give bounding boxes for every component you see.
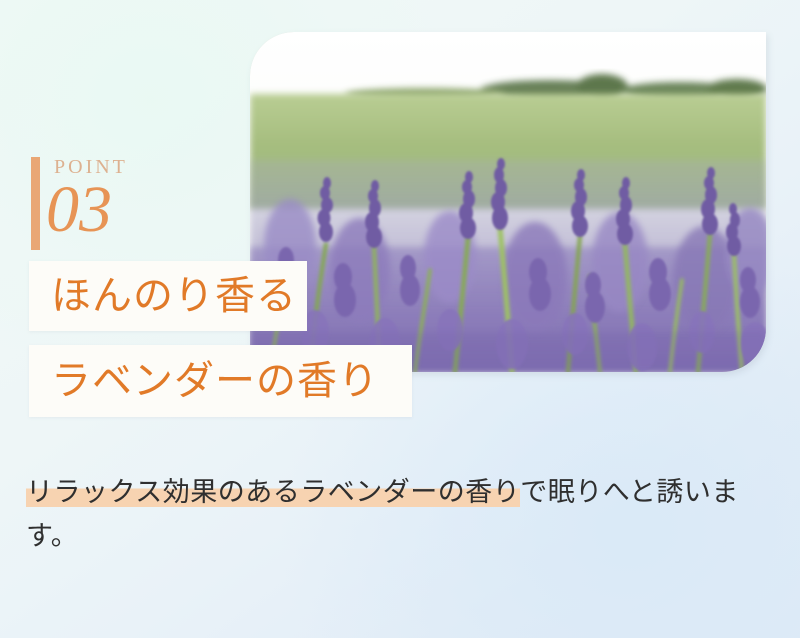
lavender-field-illustration — [250, 32, 766, 372]
headline-line-1: ほんのり香る — [29, 276, 297, 316]
body-copy-highlight: リラックス効果のあるラベンダーの香り — [26, 477, 520, 507]
headline-line-2: ラベンダーの香り — [29, 361, 379, 401]
point-section: POINT 03 ほんのり香る ラベンダーの香り リラックス効果のあるラベンダー… — [0, 0, 800, 638]
lavender-field-photo — [250, 32, 766, 372]
point-accent-bar — [31, 157, 40, 250]
headline-band-2: ラベンダーの香り — [29, 345, 412, 417]
point-block: POINT 03 — [31, 150, 128, 250]
headline-band-1: ほんのり香る — [29, 261, 307, 331]
point-number: 03 — [46, 180, 128, 241]
body-copy: リラックス効果のあるラベンダーの香りで眠りへと誘います。 — [26, 471, 766, 558]
point-text-group: POINT 03 — [52, 150, 128, 250]
